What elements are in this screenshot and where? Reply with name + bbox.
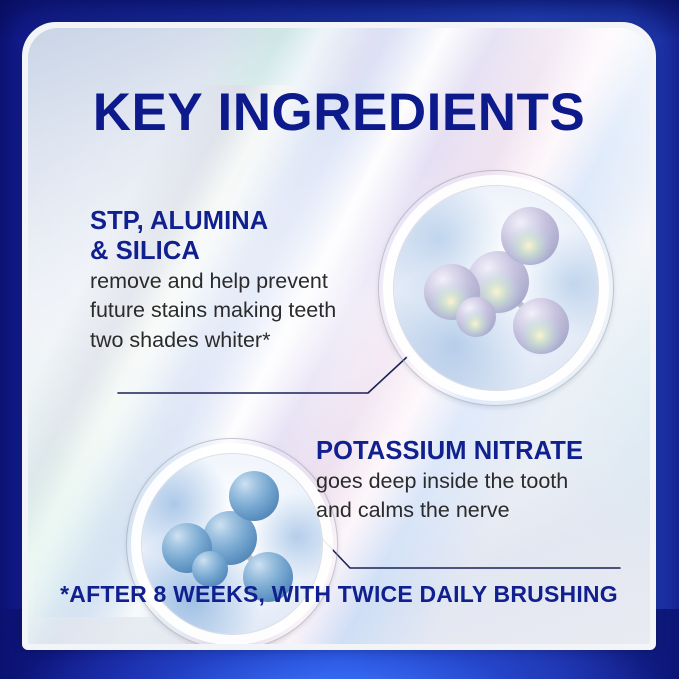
ingredient-body-line1: goes deep inside the tooth: [316, 468, 583, 495]
molecule-svg-pearl: [394, 186, 598, 390]
ingredient-body-line3: two shades whiter*: [90, 327, 336, 354]
ingredient-body-line2: and calms the nerve: [316, 497, 583, 524]
footnote-text: *AFTER 8 WEEKS, WITH TWICE DAILY BRUSHIN…: [28, 581, 650, 608]
molecule-disc: [394, 186, 598, 390]
ingredient-block-potassium: POTASSIUM NITRATE goes deep inside the t…: [316, 436, 583, 525]
molecule-illustration-stp: [378, 170, 614, 406]
ingredient-block-stp: STP, ALUMINA & SILICA remove and help pr…: [90, 206, 336, 354]
ingredient-heading-line2: & SILICA: [90, 236, 336, 266]
ingredient-heading-line1: STP, ALUMINA: [90, 206, 336, 236]
ingredient-heading-line1: POTASSIUM NITRATE: [316, 436, 583, 466]
product-infographic: KEY INGREDIENTS: [0, 0, 679, 679]
ingredient-body-line2: future stains making teeth: [90, 297, 336, 324]
page-title: KEY INGREDIENTS: [28, 86, 650, 139]
content-card: KEY INGREDIENTS: [28, 28, 650, 644]
molecule-illustration-potassium: [126, 438, 338, 644]
ingredient-body-line1: remove and help prevent: [90, 268, 336, 295]
